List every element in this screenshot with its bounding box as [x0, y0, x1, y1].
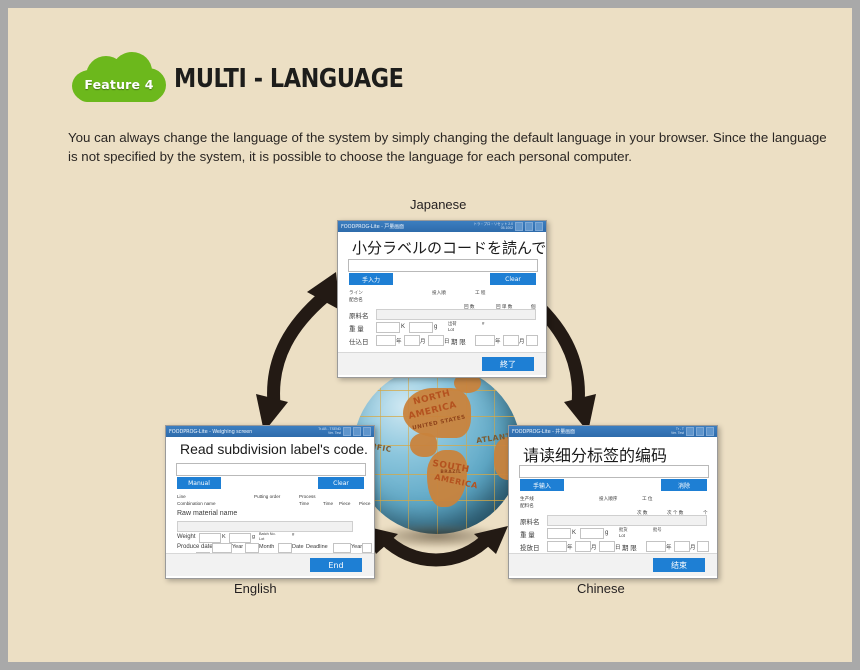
- label-piece-1: Piece: [339, 501, 351, 506]
- weight-kg-field-chinese[interactable]: [547, 528, 571, 539]
- weight-kg-field-japanese[interactable]: [376, 322, 400, 333]
- window-english[interactable]: FOODPROG-Lite - Weighing screen Tr.AB - …: [165, 425, 375, 579]
- globe-sphere: NORTH AMERICA UNITED STATES SOUTH AMERIC…: [353, 366, 521, 534]
- window-japanese[interactable]: FOODPROG-Lite - 戸量画面 トラ・プロ・リセット 2.0 05.1…: [337, 220, 547, 378]
- label-year-2: 年: [666, 543, 672, 551]
- maximize-icon[interactable]: [525, 222, 533, 231]
- end-button-chinese[interactable]: 结束: [653, 558, 705, 572]
- label-time-1: Time: [299, 501, 309, 506]
- titlebar-controls[interactable]: トラ・プロ・リセット 2.0 05.1002: [473, 222, 543, 231]
- label-material: Raw material name: [177, 510, 237, 517]
- produce-month-field-english[interactable]: [245, 543, 259, 553]
- deadline-year-field-chinese[interactable]: [646, 541, 666, 552]
- produce-year-field-english[interactable]: [212, 543, 232, 553]
- label-weight: 重 量: [520, 529, 535, 539]
- caption-chinese: Chinese: [577, 581, 625, 596]
- weight-g-field-english[interactable]: [229, 533, 251, 543]
- minimize-icon[interactable]: [686, 427, 694, 436]
- feature-badge-label: Feature 4: [72, 77, 166, 92]
- page-canvas: Feature 4 MULTI - LANGUAGE You can alway…: [8, 8, 852, 662]
- deadline-year-field-english[interactable]: [333, 543, 351, 553]
- minimize-icon[interactable]: [343, 427, 351, 436]
- close-icon[interactable]: [363, 427, 371, 436]
- deadline-month-field-chinese[interactable]: [674, 541, 690, 552]
- produce-day-field-japanese[interactable]: [428, 335, 444, 346]
- code-input-chinese[interactable]: [519, 465, 709, 478]
- label-unit-k: K: [572, 530, 576, 536]
- label-line: Line: [177, 494, 186, 499]
- footer-japanese: 終了: [338, 352, 546, 375]
- label-deadline: 期 限: [451, 336, 466, 346]
- deadline-extra-field-english[interactable]: [362, 543, 372, 553]
- caption-english: English: [234, 581, 277, 596]
- produce-day-field-english[interactable]: [278, 543, 292, 553]
- label-batch-no: Batch No.: [259, 532, 276, 536]
- deadline-day-field-chinese[interactable]: [697, 541, 709, 552]
- clear-button-english[interactable]: Clear: [318, 477, 364, 489]
- end-button-japanese[interactable]: 終了: [482, 357, 534, 371]
- label-number-sign: 批号: [653, 527, 662, 533]
- label-combination: 配合名: [349, 297, 363, 303]
- manual-button-english[interactable]: Manual: [177, 477, 221, 489]
- produce-day-field-chinese[interactable]: [599, 541, 615, 552]
- material-field-english[interactable]: [177, 521, 353, 532]
- deadline-year-field-japanese[interactable]: [475, 335, 495, 346]
- material-field-chinese[interactable]: [547, 515, 707, 526]
- minimize-icon[interactable]: [515, 222, 523, 231]
- titlebar-controls[interactable]: Tr - T Ver. Test: [671, 427, 714, 436]
- label-unit-g: g: [252, 534, 255, 540]
- label-combination: 配料名: [520, 503, 534, 509]
- label-day: 日: [615, 543, 621, 551]
- produce-year-field-japanese[interactable]: [376, 335, 396, 346]
- label-lot: Lot: [619, 533, 625, 538]
- label-unit-k: K: [222, 534, 226, 540]
- window-chinese[interactable]: FOODPROG-Lite - 井量画面 Tr - T Ver. Test 请读…: [508, 425, 718, 579]
- code-input-japanese[interactable]: [348, 259, 538, 272]
- code-input-english[interactable]: [176, 463, 366, 476]
- globe-illustration: NORTH AMERICA UNITED STATES SOUTH AMERIC…: [353, 366, 525, 546]
- label-putting-order: Putting order: [254, 494, 280, 499]
- maximize-icon[interactable]: [696, 427, 704, 436]
- titlebar-subtext: Tr.AB - TSEND Ver. Test: [318, 428, 341, 435]
- landmass-central-america: [410, 433, 437, 457]
- label-line: 生产线: [520, 496, 534, 502]
- arrow-english-chinese: [360, 524, 512, 576]
- end-button-english[interactable]: End: [310, 558, 362, 572]
- label-weight: Weight: [177, 534, 196, 540]
- label-piece-2: Piece: [359, 501, 371, 506]
- label-process: 工 程: [475, 290, 485, 296]
- manual-button-chinese[interactable]: 手输入: [520, 479, 564, 491]
- label-year-2: Year: [351, 544, 362, 550]
- label-line: ライン: [349, 290, 363, 296]
- weight-g-field-japanese[interactable]: [409, 322, 433, 333]
- titlebar-subtext: トラ・プロ・リセット 2.0 05.1002: [473, 223, 513, 230]
- titlebar-japanese[interactable]: FOODPROG-Lite - 戸量画面 トラ・プロ・リセット 2.0 05.1…: [338, 221, 546, 232]
- label-deadline: 期 限: [622, 542, 637, 552]
- maximize-icon[interactable]: [353, 427, 361, 436]
- label-unit-g: g: [434, 324, 437, 330]
- label-year: 年: [567, 543, 573, 551]
- label-lot: Lot: [448, 327, 454, 332]
- label-produce-date: 投放日: [520, 542, 540, 552]
- label-day: Date: [292, 544, 304, 550]
- label-number-sign: #: [292, 532, 294, 537]
- titlebar-english[interactable]: FOODPROG-Lite - Weighing screen Tr.AB - …: [166, 426, 374, 437]
- label-material: 原料名: [349, 310, 369, 320]
- label-month-2: 月: [519, 337, 525, 345]
- label-unit-g: g: [605, 530, 608, 536]
- weight-kg-field-english[interactable]: [199, 533, 221, 543]
- intro-paragraph: You can always change the language of th…: [68, 128, 828, 166]
- label-process: Process: [299, 494, 316, 499]
- produce-year-field-chinese[interactable]: [547, 541, 567, 552]
- page-title: MULTI - LANGUAGE: [174, 64, 404, 94]
- footer-english: End: [166, 553, 374, 576]
- label-month: Month: [259, 544, 274, 550]
- label-weight: 重 量: [349, 323, 364, 333]
- label-putting-order: 投入順: [432, 290, 446, 296]
- feature-badge: Feature 4: [72, 52, 166, 102]
- label-produce-date: 仕込日: [349, 336, 369, 346]
- label-material: 原料名: [520, 516, 540, 526]
- label-month: 月: [591, 543, 597, 551]
- titlebar-title: FOODPROG-Lite - 戸量画面: [341, 223, 404, 230]
- deadline-month-field-japanese[interactable]: [503, 335, 519, 346]
- label-year: Year: [232, 544, 243, 550]
- label-year-2: 年: [495, 337, 501, 345]
- clear-button-chinese[interactable]: 消除: [661, 479, 707, 491]
- label-deadline: Deadline: [306, 544, 328, 550]
- produce-month-field-japanese[interactable]: [404, 335, 420, 346]
- close-icon[interactable]: [706, 427, 714, 436]
- titlebar-title: FOODPROG-Lite - 井量画面: [512, 428, 575, 435]
- produce-month-field-chinese[interactable]: [575, 541, 591, 552]
- headline-japanese: 小分ラベルのコードを読んで下さい: [352, 237, 547, 258]
- label-month-2: 月: [690, 543, 696, 551]
- label-putting-order: 投入顺序: [599, 496, 617, 502]
- arrow-japanese-english: [252, 266, 348, 438]
- headline-english: Read subdivision label's code.: [180, 441, 368, 457]
- titlebar-title: FOODPROG-Lite - Weighing screen: [169, 429, 252, 435]
- label-unit-k: K: [401, 324, 405, 330]
- titlebar-chinese[interactable]: FOODPROG-Lite - 井量画面 Tr - T Ver. Test: [509, 426, 717, 437]
- material-field-japanese[interactable]: [376, 309, 536, 320]
- globe-gridline: [408, 366, 409, 534]
- label-process: 工 位: [642, 496, 652, 502]
- headline-chinese: 请读细分标签的编码: [523, 442, 667, 466]
- caption-japanese: Japanese: [410, 197, 466, 212]
- label-lot: Lot: [259, 537, 264, 541]
- footer-chinese: 结束: [509, 553, 717, 576]
- label-month: 月: [420, 337, 426, 345]
- label-combination: Combination name: [177, 501, 216, 506]
- deadline-day-field-japanese[interactable]: [526, 335, 538, 346]
- label-time-2: Time: [323, 501, 333, 506]
- label-day: 日: [444, 337, 450, 345]
- clear-button-japanese[interactable]: Clear: [490, 273, 536, 285]
- close-icon[interactable]: [535, 222, 543, 231]
- label-produce-date: Produce date: [177, 544, 213, 550]
- manual-button-japanese[interactable]: 手入力: [349, 273, 393, 285]
- weight-g-field-chinese[interactable]: [580, 528, 604, 539]
- titlebar-controls[interactable]: Tr.AB - TSEND Ver. Test: [318, 427, 371, 436]
- titlebar-subtext: Tr - T Ver. Test: [671, 428, 684, 435]
- label-number-sign: #: [482, 321, 484, 326]
- label-year: 年: [396, 337, 402, 345]
- globe-label-brazil: BRAZIL: [440, 470, 461, 475]
